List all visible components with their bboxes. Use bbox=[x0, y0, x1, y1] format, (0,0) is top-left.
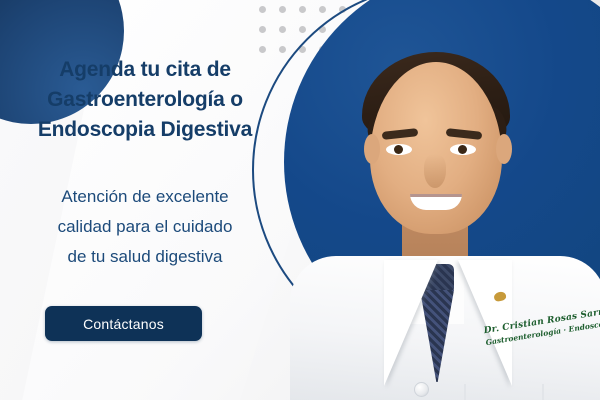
doctor-ear-left bbox=[364, 134, 380, 164]
subheadline: Atención de excelente calidad para el cu… bbox=[0, 182, 290, 272]
headline-line-3: Endoscopia Digestiva bbox=[0, 115, 290, 145]
contact-cta-button[interactable]: Contáctanos bbox=[45, 306, 202, 341]
promo-banner: Dr. Cristian Rosas Sarmiento Gastroenter… bbox=[0, 0, 600, 400]
lab-coat-lapel-left bbox=[384, 260, 438, 386]
lab-coat-pocket bbox=[464, 384, 544, 400]
doctor-pupil-left bbox=[394, 145, 403, 154]
doctor-eye-left bbox=[386, 144, 412, 155]
subheadline-line-3: de tu salud digestiva bbox=[0, 242, 290, 272]
subheadline-line-1: Atención de excelente bbox=[0, 182, 290, 212]
doctor-ear-right bbox=[496, 134, 512, 164]
banner-text-content: Agenda tu cita de Gastroenterología o En… bbox=[0, 0, 290, 400]
headline-line-1: Agenda tu cita de bbox=[0, 55, 290, 85]
doctor-photo-stage: Dr. Cristian Rosas Sarmiento Gastroenter… bbox=[240, 0, 600, 400]
lab-coat-lapel-right bbox=[458, 260, 512, 386]
headline-line-2: Gastroenterología o bbox=[0, 85, 290, 115]
doctor-nose bbox=[424, 154, 446, 188]
doctor-eye-right bbox=[450, 144, 476, 155]
subheadline-line-2: calidad para el cuidado bbox=[0, 212, 290, 242]
doctor-smile bbox=[410, 194, 462, 210]
doctor-portrait: Dr. Cristian Rosas Sarmiento Gastroenter… bbox=[298, 38, 598, 400]
headline: Agenda tu cita de Gastroenterología o En… bbox=[0, 55, 290, 145]
doctor-pupil-right bbox=[458, 145, 467, 154]
lab-coat-button bbox=[414, 382, 429, 397]
